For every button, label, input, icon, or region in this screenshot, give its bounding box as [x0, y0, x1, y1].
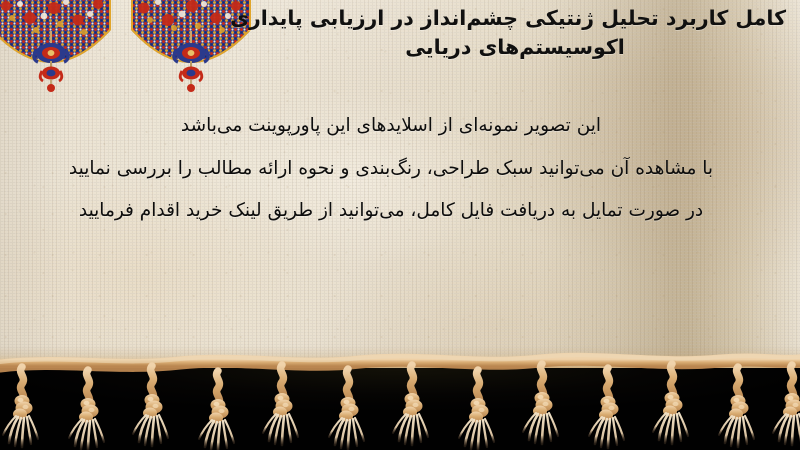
slide-body-line-2: با مشاهده آن می‌توانید سبک طراحی، رنگ‌بن… — [0, 148, 782, 191]
slide-body-text: این تصویر نمونه‌ای از اسلایدهای این پاور… — [0, 105, 782, 233]
slide-canvas: کامل کاربرد تحلیل ژنتیکی چشم‌انداز در ار… — [0, 0, 800, 450]
slide-body-line-3: در صورت تمایل به دریافت فایل کامل، می‌تو… — [0, 190, 782, 233]
knotted-rope-tassel-fringe — [0, 350, 800, 450]
slide-title-line-1: کامل کاربرد تحلیل ژنتیکی چشم‌انداز در ار… — [250, 4, 786, 33]
slide-title-line-2: اکوسیستم‌های دریایی — [250, 33, 786, 62]
slide-body-line-1: این تصویر نمونه‌ای از اسلایدهای این پاور… — [0, 105, 782, 148]
persian-medallion-pendant-icon-left — [0, 0, 116, 103]
slide-title: کامل کاربرد تحلیل ژنتیکی چشم‌انداز در ار… — [250, 4, 786, 62]
